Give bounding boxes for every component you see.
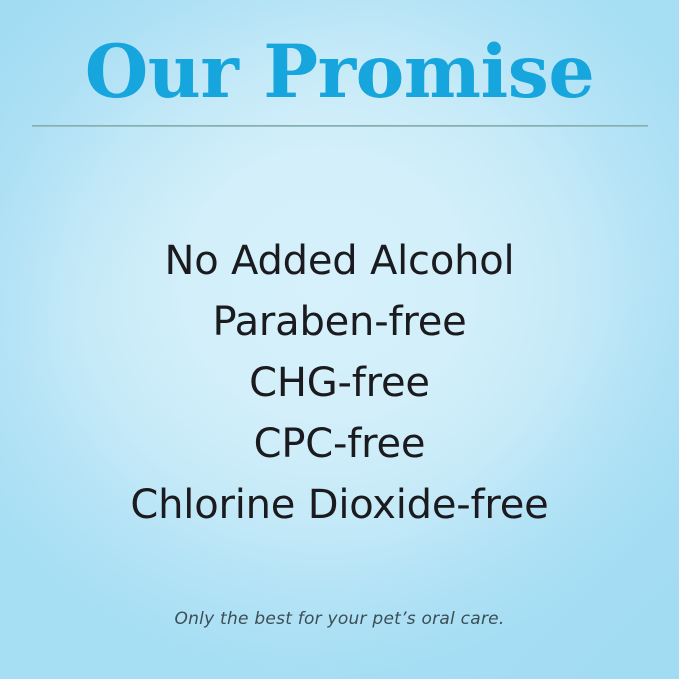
list-item: CPC-free <box>0 414 679 475</box>
claims-list: No Added Alcohol Paraben-free CHG-free C… <box>0 231 679 536</box>
title-divider <box>32 125 648 127</box>
title-block: Our Promise <box>0 34 679 111</box>
page-title: Our Promise <box>0 34 679 111</box>
our-promise-card: Our Promise No Added Alcohol Paraben-fre… <box>0 0 679 679</box>
list-item: CHG-free <box>0 353 679 414</box>
list-item: No Added Alcohol <box>0 231 679 292</box>
list-item: Paraben-free <box>0 292 679 353</box>
footer-tagline: Only the best for your pet’s oral care. <box>0 609 679 629</box>
list-item: Chlorine Dioxide-free <box>0 475 679 536</box>
